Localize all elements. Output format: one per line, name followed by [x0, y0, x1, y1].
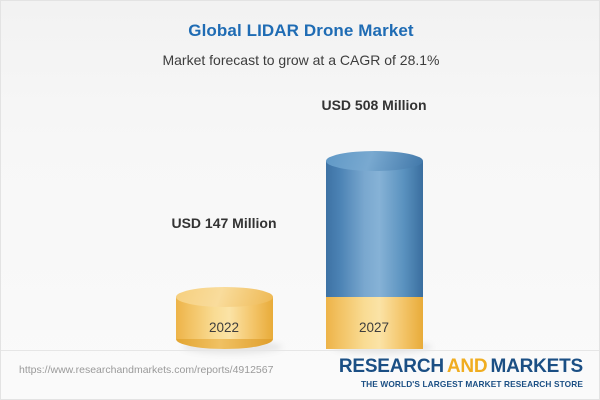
brand-word-research: RESEARCH: [339, 356, 444, 377]
chart-card: Global LIDAR Drone Market Market forecas…: [0, 0, 600, 400]
brand-word-markets: MARKETS: [490, 356, 583, 377]
brand-tagline: THE WORLD'S LARGEST MARKET RESEARCH STOR…: [339, 379, 583, 389]
bar-segment-growth-2027[interactable]: [326, 151, 423, 297]
bar-value-2027: USD 508 Million: [264, 97, 484, 113]
chart-plot-area: USD 147 Million 2022 USD 508 Million 202…: [1, 1, 600, 349]
brand-logo-wordmark: RESEARCHANDMARKETS: [339, 357, 583, 377]
cylinder-top-cap: [176, 287, 273, 307]
footer-divider: [1, 350, 600, 351]
cylinder-top-cap: [326, 151, 423, 171]
brand-word-and: AND: [447, 356, 488, 377]
report-url-link[interactable]: https://www.researchandmarkets.com/repor…: [19, 364, 273, 376]
bar-group-2022: [176, 287, 273, 349]
cylinder-body: [326, 161, 423, 297]
bar-group-2027-growth: [326, 151, 423, 297]
category-label-2022: 2022: [144, 320, 304, 335]
category-label-2027: 2027: [294, 320, 454, 335]
brand-logo[interactable]: RESEARCHANDMARKETS THE WORLD'S LARGEST M…: [339, 357, 583, 389]
bar-value-2022: USD 147 Million: [114, 215, 334, 231]
bar-segment-base-2022[interactable]: [176, 287, 273, 349]
